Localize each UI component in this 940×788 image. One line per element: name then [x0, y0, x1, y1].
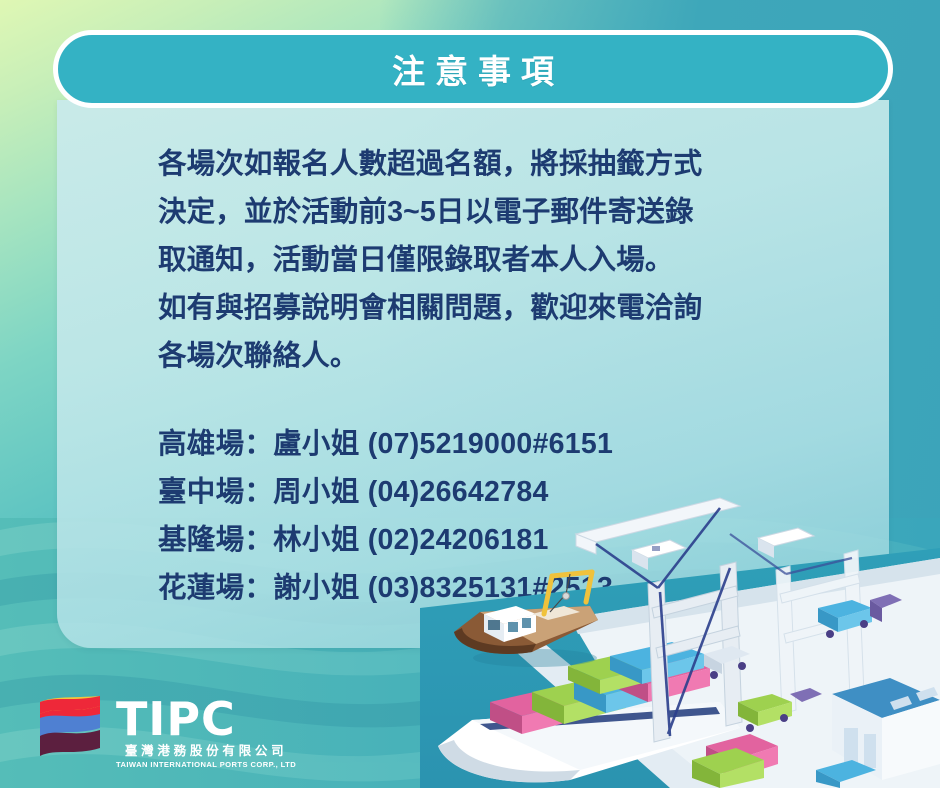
notice-paragraph: 各場次如報名人數超過名額，將採抽籤方式 決定，並於活動前3~5日以電子郵件寄送錄… — [158, 140, 849, 380]
tipc-logo: TIPC 臺灣港務股份有限公司 TAIWAN INTERNATIONAL POR… — [38, 696, 296, 769]
notice-paragraph-line: 各場次聯絡人。 — [158, 332, 849, 380]
contact-item-kaohsiung: 高雄場：盧小姐 (07)5219000#6151 — [158, 420, 849, 468]
notice-paragraph-line: 各場次如報名人數超過名額，將採抽籤方式 — [158, 140, 849, 188]
tipc-logo-text: TIPC 臺灣港務股份有限公司 TAIWAN INTERNATIONAL POR… — [116, 698, 296, 769]
notice-paragraph-line: 如有與招募說明會相關問題，歡迎來電洽詢 — [158, 284, 849, 332]
notice-paragraph-line: 決定，並於活動前3~5日以電子郵件寄送錄 — [158, 188, 849, 236]
page-title: 注意事項 — [58, 35, 888, 103]
notice-header-pill: 注意事項 — [53, 30, 893, 108]
tipc-name-en: TAIWAN INTERNATIONAL PORTS CORP., LTD — [116, 760, 296, 769]
poster-canvas: 注意事項 各場次如報名人數超過名額，將採抽籤方式 決定，並於活動前3~5日以電子… — [0, 0, 940, 788]
tipc-wordmark: TIPC — [116, 698, 296, 740]
fishing-boat-illustration — [440, 558, 630, 678]
tipc-flag-icon — [38, 696, 102, 758]
notice-paragraph-line: 取通知，活動當日僅限錄取者本人入場。 — [158, 236, 849, 284]
tipc-name-zh: 臺灣港務股份有限公司 — [116, 744, 296, 758]
